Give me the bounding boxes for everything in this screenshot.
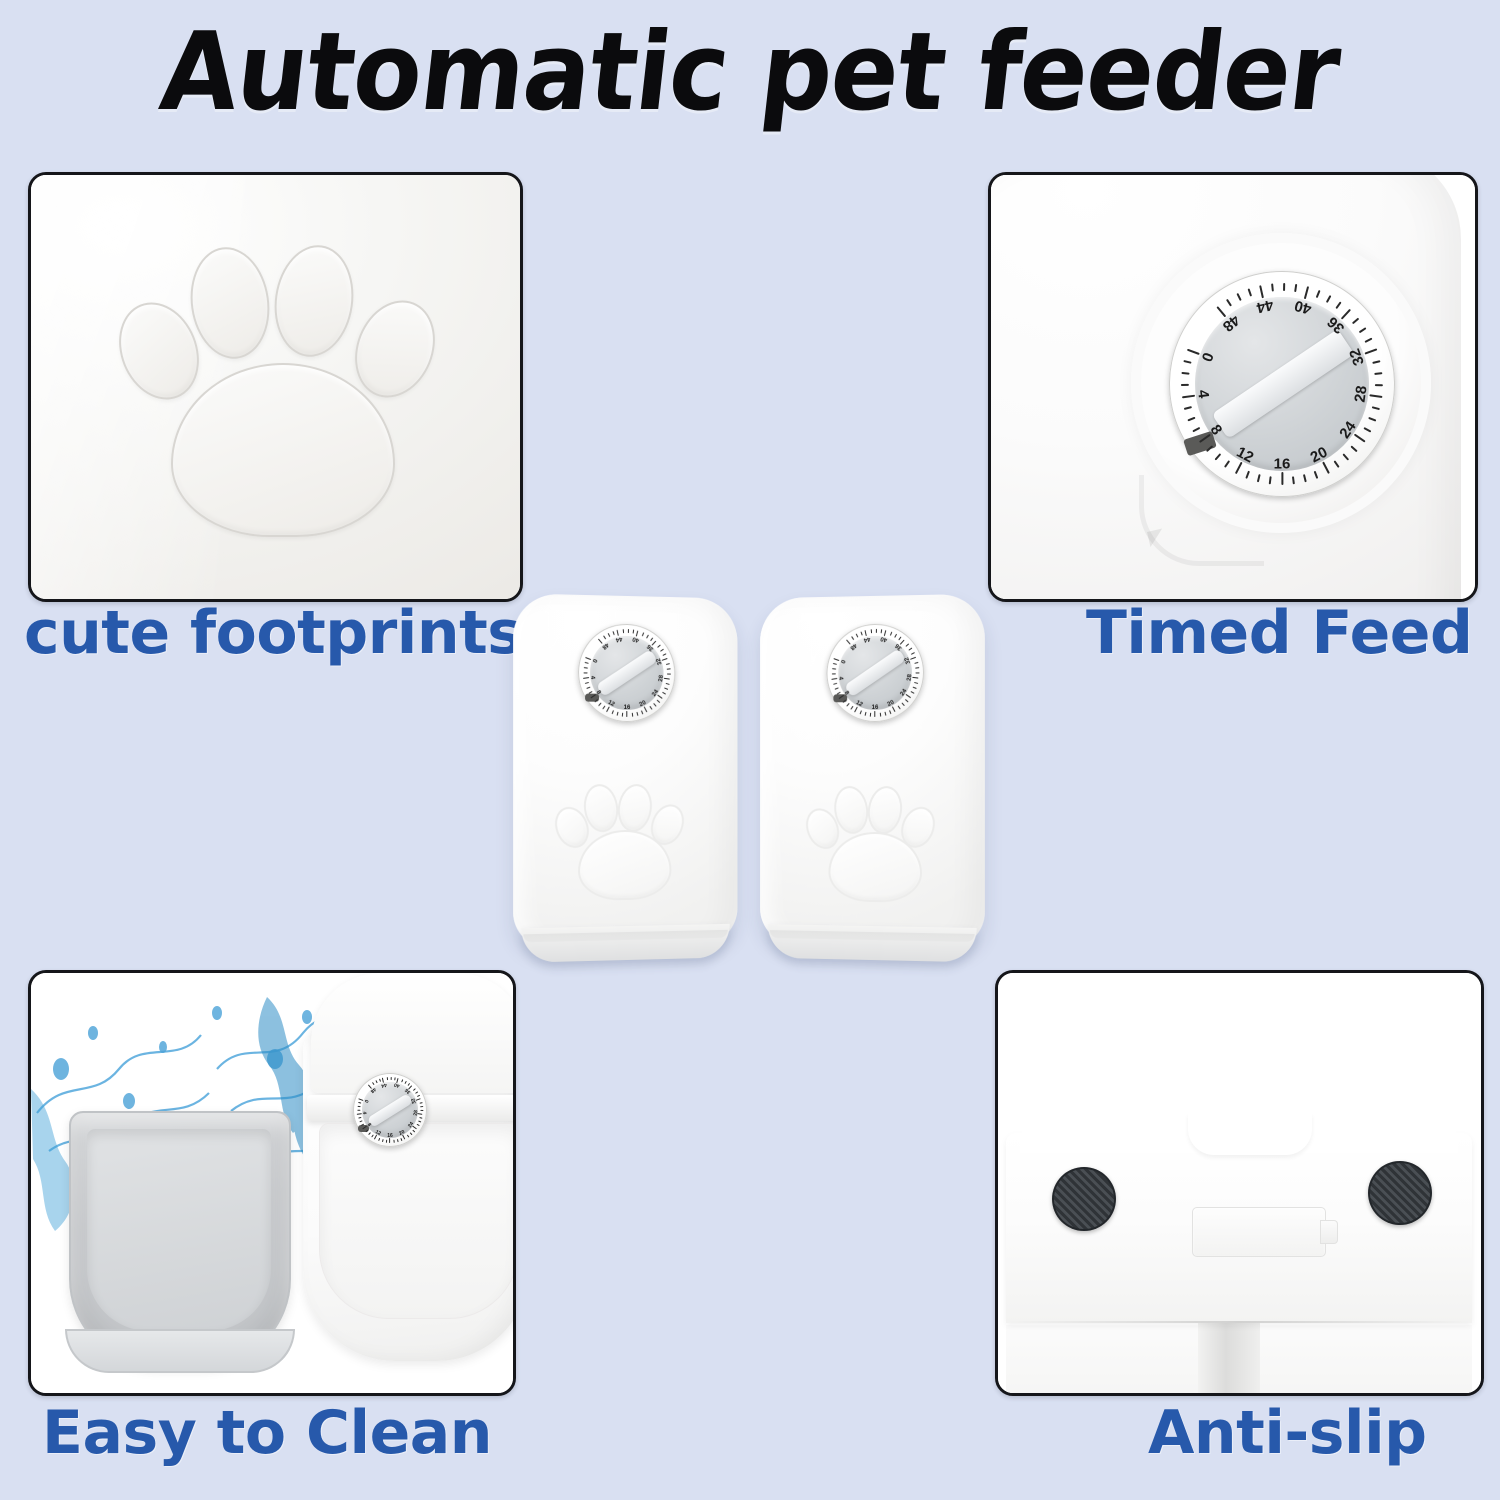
dial-minor-tick [875, 629, 876, 633]
hero-product-image: 04812162024283236404448 0481216202428323… [500, 582, 1000, 980]
paw-print-icon [807, 786, 938, 903]
dial-minor-tick [1375, 384, 1383, 386]
dial-minor-tick [379, 1079, 381, 1082]
paw-toe [184, 242, 277, 364]
caption-easy-to-clean: Easy to Clean [42, 1398, 492, 1468]
panel-anti-slip [995, 970, 1484, 1396]
dial-number-label: 28 [412, 1110, 419, 1116]
dial-minor-tick [583, 672, 587, 673]
dial-minor-tick [386, 1077, 387, 1080]
removable-food-tray [69, 1111, 291, 1367]
dial-major-tick [1281, 472, 1283, 485]
underside-edge-left [1020, 1117, 1200, 1153]
caption-timed-feed: Timed Feed [1086, 598, 1472, 668]
dial-minor-tick [357, 1110, 360, 1111]
feeder-compartment-left: 04812162024283236404448 [513, 593, 737, 948]
timer-dial-icon[interactable]: 04812162024283236404448 [578, 623, 675, 722]
dial-minor-tick [382, 1139, 383, 1142]
dial-minor-tick [621, 713, 622, 717]
dial-number-label: 16 [1274, 456, 1291, 473]
timer-dial-icon[interactable]: 04812162024283236404448 [826, 623, 924, 722]
dial-minor-tick [393, 1140, 394, 1143]
lid-seam [523, 930, 728, 943]
dial-minor-tick [1181, 384, 1189, 386]
dial-minor-tick [1283, 283, 1285, 291]
dial-number-label: 44 [1255, 296, 1275, 316]
dial-number-label: 16 [624, 705, 631, 711]
caption-anti-slip: Anti-slip [1148, 1398, 1427, 1468]
dial-minor-tick [915, 672, 919, 673]
paw-print-icon [556, 784, 687, 901]
caption-cute-footprints: cute footprints [24, 598, 523, 668]
feeder-bowl-cavity [319, 1123, 516, 1319]
dial-number-label: 4 [837, 676, 843, 680]
dial-minor-tick [879, 713, 880, 717]
dial-minor-tick [627, 629, 628, 633]
feeder-open-lid [311, 973, 516, 1093]
paw-print-icon [119, 243, 449, 543]
paw-pad [578, 830, 671, 901]
infographic-stage: Automatic pet feeder cute footprints 048… [0, 0, 1500, 1500]
feeder-stand [1198, 1323, 1260, 1393]
timer-dial-icon[interactable]: 04812162024283236404448 [1169, 271, 1395, 497]
dial-number-label: 28 [906, 673, 913, 680]
paw-toe [268, 240, 361, 362]
anti-slip-pad-icon [1052, 1167, 1116, 1231]
dial-minor-tick [870, 629, 871, 633]
battery-hatch-latch[interactable] [1320, 1220, 1338, 1244]
dial-minor-tick [420, 1110, 423, 1111]
dial-minor-tick [632, 629, 634, 633]
dial-minor-tick [869, 713, 870, 717]
panel-cute-footprints [28, 172, 523, 602]
battery-hatch-icon[interactable] [1192, 1207, 1326, 1257]
lid-seam [770, 930, 975, 942]
dial-number-label: 28 [1352, 385, 1371, 404]
dial-number-label: 4 [589, 675, 595, 679]
paw-toe [865, 784, 905, 836]
dial-minor-tick [631, 713, 632, 717]
dial-number-label: 40 [393, 1081, 400, 1088]
dial-minor-tick [831, 673, 835, 674]
page-title: Automatic pet feeder [54, 16, 1447, 129]
feeder-underside [1006, 1133, 1472, 1323]
dial-minor-tick [616, 712, 618, 716]
dial-minor-tick [666, 673, 670, 674]
dial-minor-tick [386, 1140, 387, 1143]
dial-minor-tick [390, 1077, 391, 1080]
dial-number-label: 28 [658, 674, 665, 681]
feeder-compartment-right: 04812162024283236404448 [760, 594, 985, 949]
panel-timed-feed: 04812162024283236404448 [988, 172, 1478, 602]
dial-minor-tick [394, 1077, 395, 1080]
timer-dial-icon[interactable]: 04812162024283236404448 [353, 1073, 427, 1147]
dial-number-label: 16 [387, 1133, 393, 1139]
underside-seam [1006, 1321, 1472, 1323]
dial-minor-tick [880, 629, 882, 633]
anti-slip-pad-icon [1368, 1161, 1432, 1225]
underside-center-notch [1188, 1113, 1312, 1155]
dial-minor-tick [622, 629, 623, 633]
paw-pad [171, 363, 395, 537]
paw-toe [615, 782, 655, 834]
panel-easy-to-clean: 04812162024283236404448 [28, 970, 516, 1396]
dial-number-label: 16 [872, 705, 879, 711]
dial-minor-tick [397, 1139, 398, 1142]
